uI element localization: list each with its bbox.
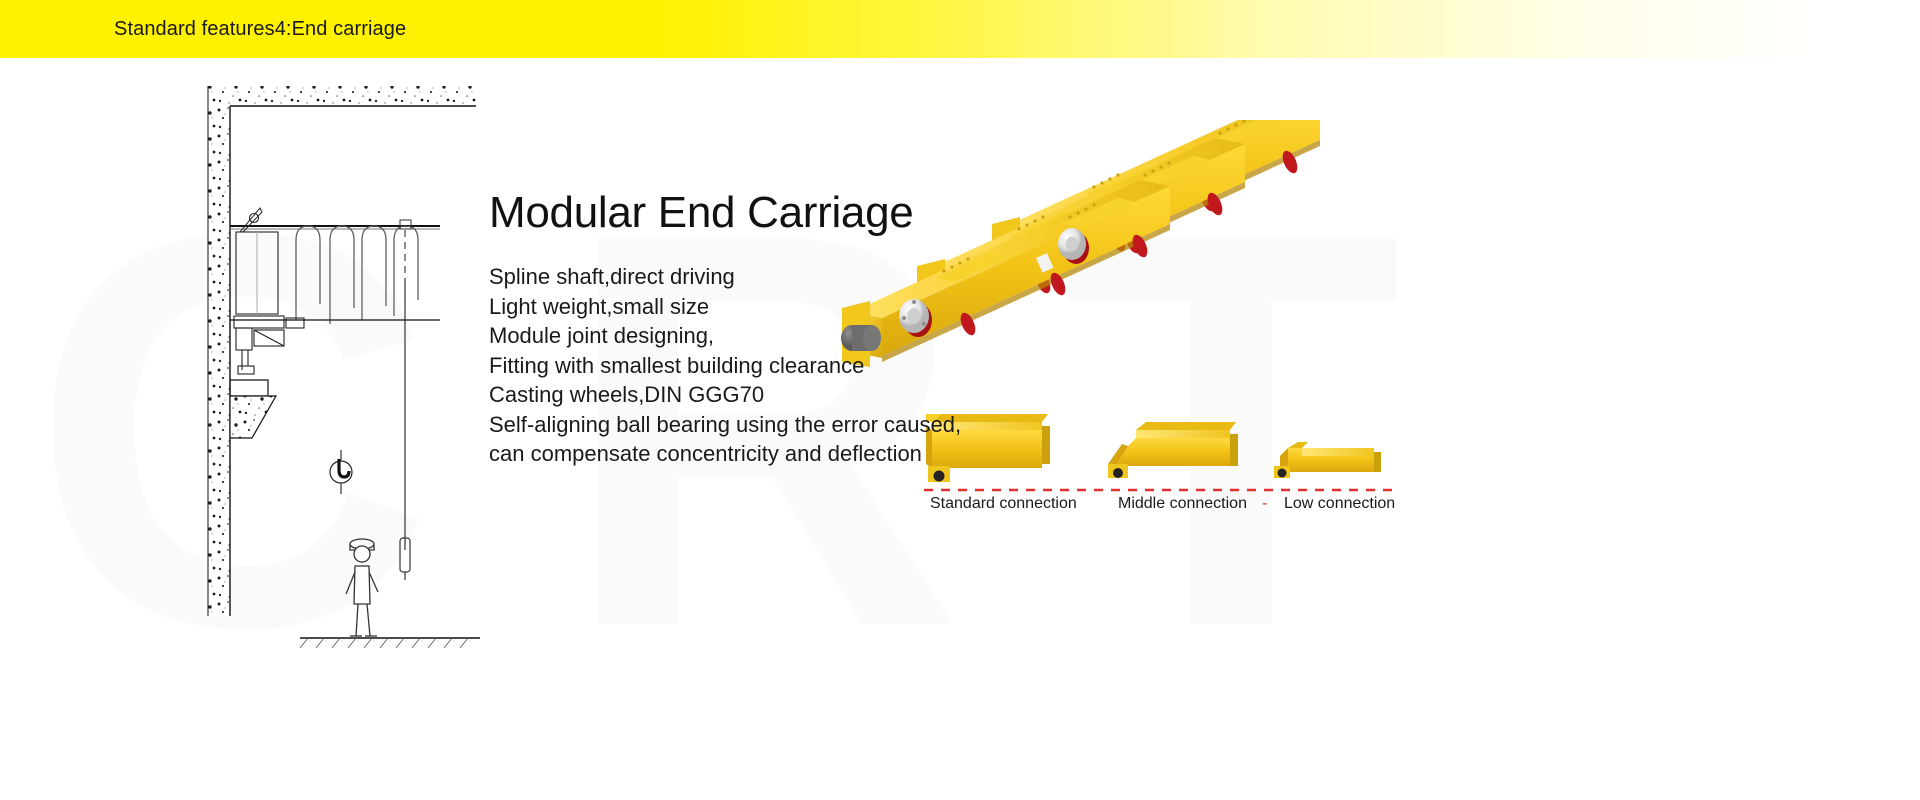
crane-installation-section-drawing: [190, 80, 480, 660]
text-content-block: Modular End Carriage Spline shaft,direct…: [489, 190, 919, 469]
connection-captions: Standard connection Middle connection - …: [900, 495, 1420, 519]
caption-separator-dash: -: [1262, 495, 1267, 513]
feature-line: Fitting with smallest building clearance: [489, 351, 919, 381]
header-bar: Standard features4:End carriage: [0, 0, 1920, 58]
caption-low-connection: Low connection: [1284, 495, 1395, 513]
caption-standard-connection: Standard connection: [930, 495, 1077, 513]
feature-line: can compensate concentricity and deflect…: [489, 439, 919, 469]
main-heading: Modular End Carriage: [489, 190, 919, 236]
feature-line: Spline shaft,direct driving: [489, 262, 919, 292]
caption-middle-connection: Middle connection: [1118, 495, 1247, 513]
page-title: Standard features4:End carriage: [114, 18, 406, 41]
feature-line: Self-aligning ball bearing using the err…: [489, 410, 919, 440]
feature-line: Casting wheels,DIN GGG70: [489, 380, 919, 410]
feature-line: Light weight,small size: [489, 292, 919, 322]
feature-line: Module joint designing,: [489, 321, 919, 351]
